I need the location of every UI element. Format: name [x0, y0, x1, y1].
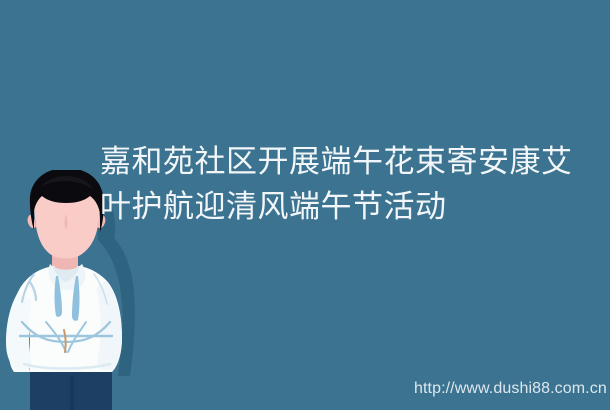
page-title: 嘉和苑社区开展端午花束寄安康艾叶护航迎清风端午节活动	[100, 139, 596, 229]
poster-canvas: 嘉和苑社区开展端午花束寄安康艾叶护航迎清风端午节活动 http://www.du…	[0, 0, 610, 410]
watermark-url: http://www.dushi88.com.cn	[414, 379, 607, 398]
hoodie	[6, 264, 122, 372]
pants	[30, 368, 112, 410]
